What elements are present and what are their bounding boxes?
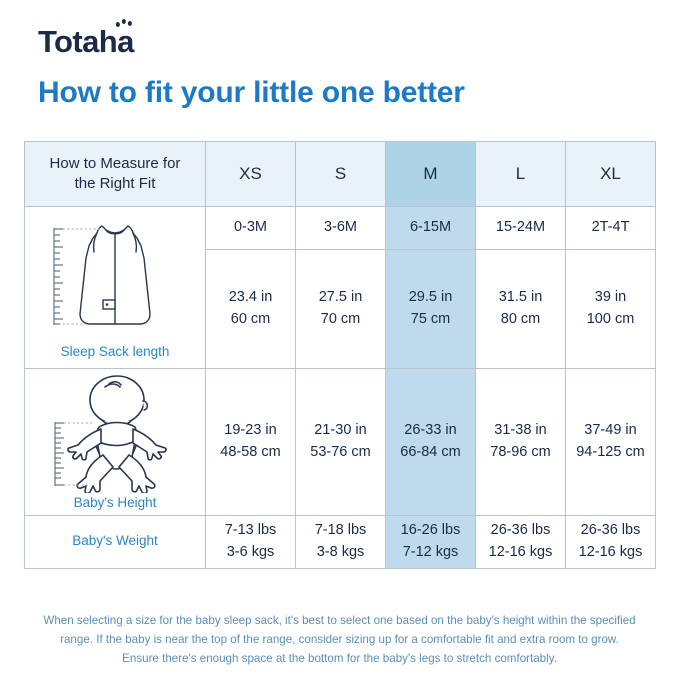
header-measure-label: How to Measure for the Right Fit <box>25 142 206 207</box>
baby-weight-label: Baby's Weight <box>72 533 158 548</box>
sizing-note-line-1: When selecting a size for the baby sleep… <box>24 612 655 631</box>
length-xl-in: 39 in <box>566 287 655 309</box>
length-l-in: 31.5 in <box>476 287 565 309</box>
height-m-cm: 66-84 cm <box>386 442 475 464</box>
header-size-xs: XS <box>206 142 296 207</box>
baby-icon <box>37 375 193 493</box>
height-m: 26-33 in 66-84 cm <box>386 369 476 516</box>
brand-accent-letter: a <box>117 26 134 57</box>
length-s-cm: 70 cm <box>296 309 385 331</box>
sleep-sack-illustration-box: Sleep Sack length <box>25 207 205 368</box>
age-m: 6-15M <box>386 207 476 250</box>
weight-l-kgs: 12-16 kgs <box>476 542 565 564</box>
length-xs-cm: 60 cm <box>206 309 295 331</box>
length-s: 27.5 in 70 cm <box>296 250 386 369</box>
weight-xs-kgs: 3-6 kgs <box>206 542 295 564</box>
weight-xl-lbs: 26-36 lbs <box>566 520 655 542</box>
length-xl-cm: 100 cm <box>566 309 655 331</box>
age-l: 15-24M <box>476 207 566 250</box>
height-xs-cm: 48-58 cm <box>206 442 295 464</box>
height-xl-cm: 94-125 cm <box>566 442 655 464</box>
size-chart-table-wrapper: How to Measure for the Right Fit XS S M … <box>24 141 655 569</box>
height-xl-in: 37-49 in <box>566 420 655 442</box>
sleep-sack-icon <box>40 216 190 342</box>
length-xl: 39 in 100 cm <box>566 250 656 369</box>
weight-l-lbs: 26-36 lbs <box>476 520 565 542</box>
height-l-in: 31-38 in <box>476 420 565 442</box>
baby-illustration-box: Baby's Height <box>25 369 205 515</box>
length-xs: 23.4 in 60 cm <box>206 250 296 369</box>
table-row-baby-height: Baby's Height 19-23 in 48-58 cm 21-30 in… <box>25 369 656 516</box>
weight-s-lbs: 7-18 lbs <box>296 520 385 542</box>
table-row-baby-weight: Baby's Weight 7-13 lbs 3-6 kgs 7-18 lbs … <box>25 516 656 569</box>
length-l: 31.5 in 80 cm <box>476 250 566 369</box>
page-title: How to fit your little one better <box>38 76 465 110</box>
height-s-in: 21-30 in <box>296 420 385 442</box>
sleep-sack-illustration-cell: Sleep Sack length <box>25 207 206 369</box>
height-xs-in: 19-23 in <box>206 420 295 442</box>
footprint-dots-icon <box>115 19 137 27</box>
height-s-cm: 53-76 cm <box>296 442 385 464</box>
header-size-xl: XL <box>566 142 656 207</box>
weight-xl: 26-36 lbs 12-16 kgs <box>566 516 656 569</box>
sizing-note-line-3: Ensure there's enough space at the botto… <box>24 650 655 669</box>
weight-m-kgs: 7-12 kgs <box>386 542 475 564</box>
size-chart-table: How to Measure for the Right Fit XS S M … <box>24 141 656 569</box>
baby-illustration-cell: Baby's Height <box>25 369 206 516</box>
header-size-m: M <box>386 142 476 207</box>
height-l-cm: 78-96 cm <box>476 442 565 464</box>
sleep-sack-length-label: Sleep Sack length <box>61 344 170 359</box>
height-s: 21-30 in 53-76 cm <box>296 369 386 516</box>
brand-name-prefix: Totah <box>38 24 117 59</box>
height-xl: 37-49 in 94-125 cm <box>566 369 656 516</box>
header-size-l: L <box>476 142 566 207</box>
length-m-cm: 75 cm <box>386 309 475 331</box>
weight-l: 26-36 lbs 12-16 kgs <box>476 516 566 569</box>
height-m-in: 26-33 in <box>386 420 475 442</box>
table-row-age: Sleep Sack length 0-3M 3-6M 6-15M 15-24M… <box>25 207 656 250</box>
baby-height-label: Baby's Height <box>74 495 157 510</box>
weight-xs: 7-13 lbs 3-6 kgs <box>206 516 296 569</box>
length-s-in: 27.5 in <box>296 287 385 309</box>
weight-m-lbs: 16-26 lbs <box>386 520 475 542</box>
weight-xs-lbs: 7-13 lbs <box>206 520 295 542</box>
size-chart-page: Totaha How to fit your little one better… <box>0 0 679 679</box>
baby-weight-label-cell: Baby's Weight <box>25 516 206 569</box>
age-xl: 2T-4T <box>566 207 656 250</box>
length-m: 29.5 in 75 cm <box>386 250 476 369</box>
sizing-note: When selecting a size for the baby sleep… <box>24 612 655 668</box>
height-l: 31-38 in 78-96 cm <box>476 369 566 516</box>
weight-m: 16-26 lbs 7-12 kgs <box>386 516 476 569</box>
table-header-row: How to Measure for the Right Fit XS S M … <box>25 142 656 207</box>
age-xs: 0-3M <box>206 207 296 250</box>
length-xs-in: 23.4 in <box>206 287 295 309</box>
header-size-s: S <box>296 142 386 207</box>
sizing-note-line-2: range. If the baby is near the top of th… <box>24 631 655 650</box>
length-l-cm: 80 cm <box>476 309 565 331</box>
age-s: 3-6M <box>296 207 386 250</box>
brand-logo: Totaha <box>38 26 134 57</box>
weight-xl-kgs: 12-16 kgs <box>566 542 655 564</box>
height-xs: 19-23 in 48-58 cm <box>206 369 296 516</box>
weight-s-kgs: 3-8 kgs <box>296 542 385 564</box>
length-m-in: 29.5 in <box>386 287 475 309</box>
weight-s: 7-18 lbs 3-8 kgs <box>296 516 386 569</box>
